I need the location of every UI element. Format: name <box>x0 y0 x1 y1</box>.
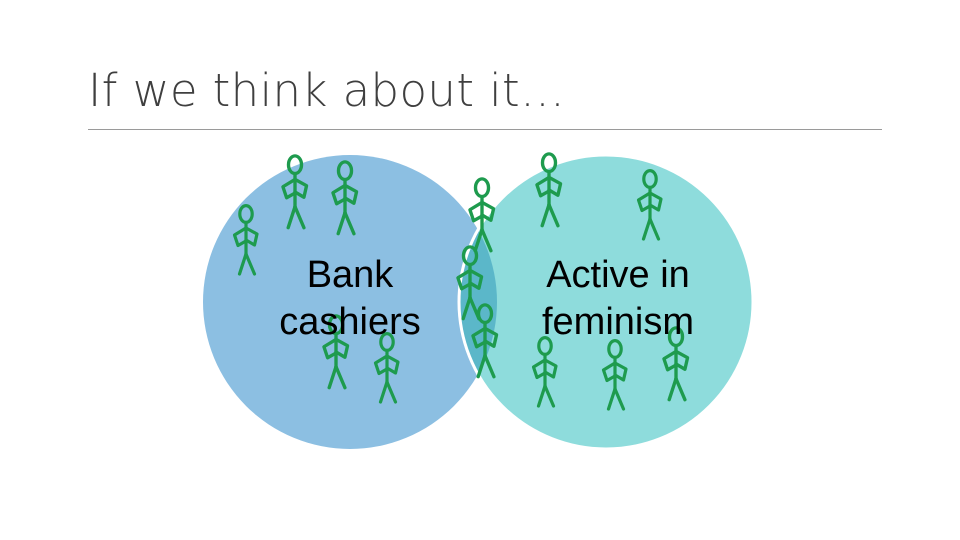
venn-diagram: Bank cashiers Active in feminism <box>0 0 960 540</box>
slide-canvas: If we think about it… <box>0 0 960 540</box>
venn-svg <box>0 0 960 540</box>
